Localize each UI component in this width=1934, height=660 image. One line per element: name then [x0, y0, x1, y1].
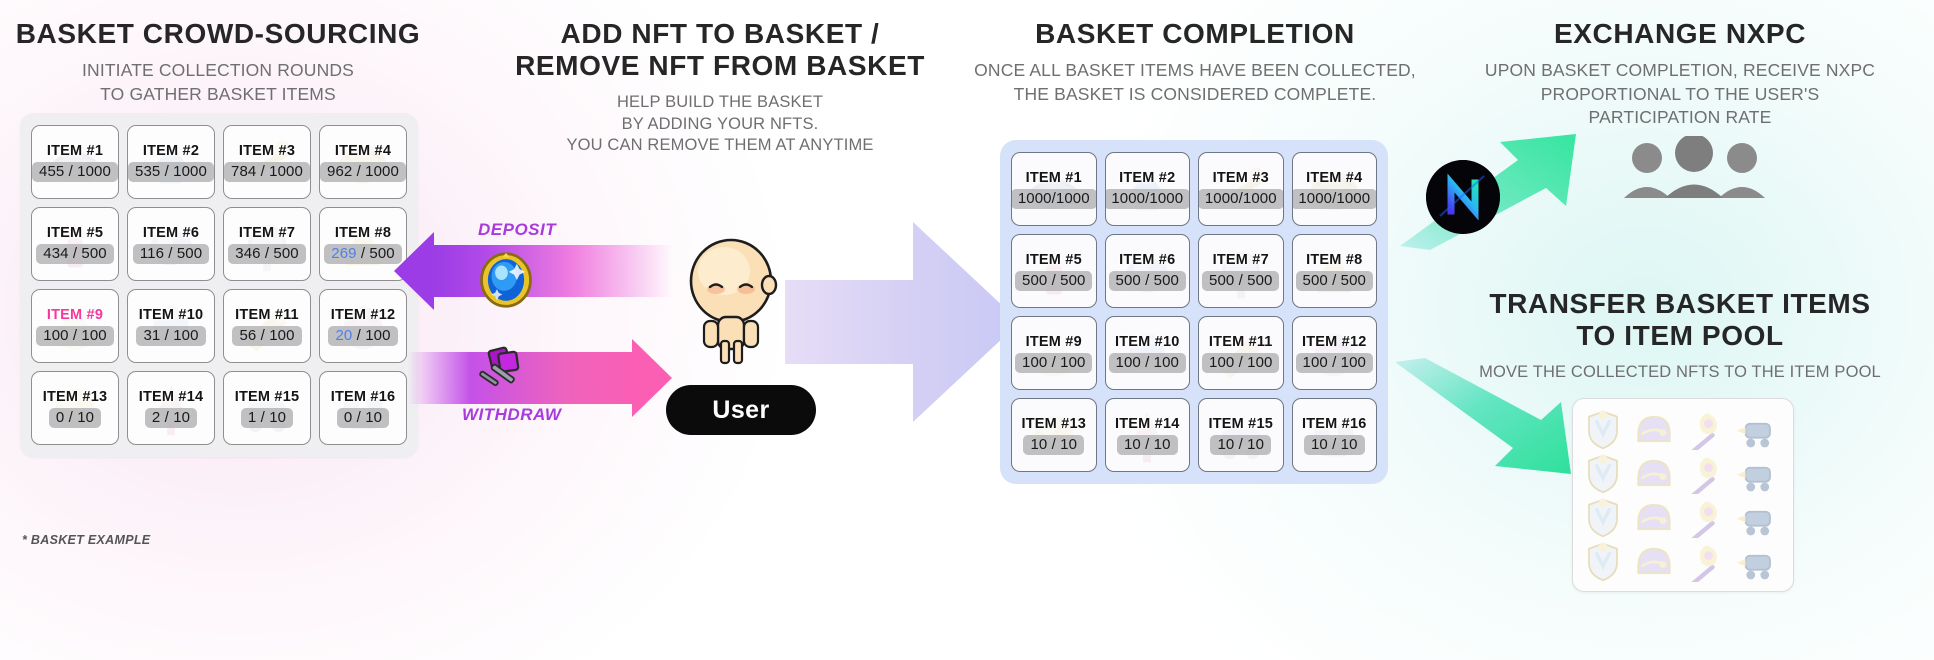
- basket-item-cell[interactable]: ITEM #142 / 10: [127, 371, 215, 445]
- exchange-title: EXCHANGE NXPC: [1460, 18, 1900, 50]
- basket-item-current: 269: [331, 245, 356, 262]
- basket-item-count: 100 / 100: [1202, 353, 1279, 373]
- basket-item-separator: /: [69, 327, 82, 344]
- basket-item-count: 100 / 100: [1015, 353, 1092, 373]
- basket-item-cell[interactable]: ITEM #6116 / 500: [127, 207, 215, 281]
- basket-item-total: 500: [81, 245, 106, 262]
- basket-item-cell[interactable]: ITEM #5434 / 500: [31, 207, 119, 281]
- pool-item-sprite: [1582, 408, 1624, 450]
- basket-item-current: 100: [43, 327, 68, 344]
- down-right-arrow-icon: [1395, 352, 1595, 482]
- deposit-label: DEPOSIT: [478, 220, 556, 240]
- basket-item-cell[interactable]: ITEM #11100 / 100: [1198, 316, 1284, 390]
- pool-item-sprite: [1633, 540, 1675, 582]
- basket-item-cell[interactable]: ITEM #10100 / 100: [1105, 316, 1191, 390]
- basket-item-cell[interactable]: ITEM #6500 / 500: [1105, 234, 1191, 308]
- basket-item-current: 10: [1124, 436, 1141, 453]
- basket-item-total: 500: [1060, 272, 1085, 289]
- hammer-item-icon: [472, 340, 530, 398]
- basket-item-label: ITEM #2: [143, 143, 199, 159]
- basket-item-count: 269 / 500: [324, 244, 401, 264]
- basket-item-label: ITEM #13: [43, 389, 107, 405]
- basket-item-label: ITEM #14: [139, 389, 203, 405]
- basket-item-label: ITEM #7: [1213, 252, 1269, 268]
- pool-item-sprite: [1735, 540, 1777, 582]
- basket-item-current: 31: [143, 327, 160, 344]
- complete-basket-grid[interactable]: ITEM #11000/1000ITEM #21000/1000ITEM #31…: [1000, 140, 1388, 484]
- basket-item-separator: /: [352, 327, 365, 344]
- basket-item-separator: /: [1328, 436, 1341, 453]
- basket-item-separator: /: [1234, 436, 1247, 453]
- basket-item-total: 1000: [365, 163, 399, 180]
- basket-item-separator: /: [160, 409, 173, 426]
- add-remove-subtitle: HELP BUILD THE BASKET BY ADDING YOUR NFT…: [500, 92, 940, 157]
- basket-item-total: 500: [1247, 272, 1272, 289]
- basket-item-current: 500: [1209, 272, 1234, 289]
- basket-item-cell[interactable]: ITEM #1455 / 1000: [31, 125, 119, 199]
- nxpc-token-logo: [1426, 160, 1500, 234]
- pool-item-sprite: [1735, 496, 1777, 538]
- basket-item-separator: /: [1234, 354, 1247, 371]
- basket-item-total: 10: [77, 409, 94, 426]
- basket-item-count: 434 / 500: [36, 244, 113, 264]
- pool-item-sprite: [1684, 496, 1726, 538]
- basket-item-cell[interactable]: ITEM #9100 / 100: [31, 289, 119, 363]
- basket-item-total: 500: [273, 245, 298, 262]
- basket-item-label: ITEM #4: [335, 143, 391, 159]
- basket-item-total: 1000: [173, 163, 207, 180]
- basket-item-total: 100: [1247, 354, 1272, 371]
- basket-item-label: ITEM #13: [1022, 416, 1086, 432]
- basket-item-label: ITEM #9: [1026, 334, 1082, 350]
- basket-item-count: 962 / 1000: [320, 162, 406, 182]
- basket-item-separator: /: [160, 163, 173, 180]
- basket-item-separator: /: [1141, 436, 1154, 453]
- basket-item-separator: /: [69, 245, 82, 262]
- basket-item-separator: /: [1328, 354, 1341, 371]
- basket-item-cell[interactable]: ITEM #8500 / 500: [1292, 234, 1378, 308]
- basket-item-count: 100 / 100: [1296, 353, 1373, 373]
- basket-item-total: 10: [1341, 436, 1358, 453]
- basket-item-total: 1000: [1243, 190, 1277, 207]
- basket-item-separator: /: [256, 409, 269, 426]
- basket-item-label: ITEM #10: [139, 307, 203, 323]
- basket-item-total: 500: [1341, 272, 1366, 289]
- basket-item-current: 346: [235, 245, 260, 262]
- basket-item-current: 535: [135, 163, 160, 180]
- basket-item-separator: /: [1141, 272, 1154, 289]
- section-completion: BASKET COMPLETION ONCE ALL BASKET ITEMS …: [970, 18, 1420, 106]
- basket-item-total: 10: [1247, 436, 1264, 453]
- basket-item-separator: /: [1234, 272, 1247, 289]
- basket-example-footnote: * BASKET EXAMPLE: [22, 533, 150, 547]
- basket-item-separator: /: [1047, 436, 1060, 453]
- basket-item-separator: /: [1141, 354, 1154, 371]
- basket-item-current: 10: [1030, 436, 1047, 453]
- basket-item-label: ITEM #4: [1306, 170, 1362, 186]
- basket-item-current: 1000: [1205, 190, 1239, 207]
- basket-item-cell[interactable]: ITEM #41000/1000: [1292, 152, 1378, 226]
- basket-item-label: ITEM #8: [335, 225, 391, 241]
- basket-item-total: 100: [1341, 354, 1366, 371]
- deposit-arrow-bar: [432, 245, 673, 297]
- basket-item-current: 784: [231, 163, 256, 180]
- basket-item-label: ITEM #15: [235, 389, 299, 405]
- basket-item-label: ITEM #2: [1119, 170, 1175, 186]
- basket-item-separator: /: [160, 327, 173, 344]
- basket-item-cell[interactable]: ITEM #11000/1000: [1011, 152, 1097, 226]
- basket-item-current: 100: [1022, 354, 1047, 371]
- basket-item-count: 1000/1000: [1198, 189, 1284, 209]
- basket-item-current: 56: [239, 327, 256, 344]
- basket-item-cell[interactable]: ITEM #1310 / 10: [1011, 398, 1097, 472]
- basket-item-total: 1000: [77, 163, 111, 180]
- withdraw-flow: [408, 352, 658, 404]
- basket-item-cell[interactable]: ITEM #4962 / 1000: [319, 125, 407, 199]
- basket-item-cell[interactable]: ITEM #21000/1000: [1105, 152, 1191, 226]
- basket-item-count: 535 / 1000: [128, 162, 214, 182]
- basket-item-separator: /: [357, 245, 370, 262]
- basket-item-total: 10: [1154, 436, 1171, 453]
- people-group-icon: [1622, 136, 1767, 198]
- basket-item-label: ITEM #16: [1302, 416, 1366, 432]
- pool-item-sprite: [1735, 408, 1777, 450]
- basket-item-cell[interactable]: ITEM #160 / 10: [319, 371, 407, 445]
- basket-item-separator: /: [164, 245, 177, 262]
- basket-item-count: 1 / 10: [241, 408, 293, 428]
- basket-item-cell[interactable]: ITEM #9100 / 100: [1011, 316, 1097, 390]
- basket-item-current: 1000: [1111, 190, 1145, 207]
- basket-item-label: ITEM #12: [1302, 334, 1366, 350]
- basket-item-current: 116: [140, 245, 164, 262]
- basket-item-label: ITEM #3: [239, 143, 295, 159]
- basket-item-cell[interactable]: ITEM #1510 / 10: [1198, 398, 1284, 472]
- basket-item-current: 10: [1311, 436, 1328, 453]
- basket-item-separator: /: [64, 409, 77, 426]
- orb-item-icon: [477, 251, 535, 309]
- exchange-subtitle: UPON BASKET COMPLETION, RECEIVE NXPC PRO…: [1460, 59, 1900, 128]
- basket-item-label: ITEM #8: [1306, 252, 1362, 268]
- basket-item-separator: /: [64, 163, 77, 180]
- basket-item-label: ITEM #11: [235, 307, 299, 323]
- basket-item-cell[interactable]: ITEM #1031 / 100: [127, 289, 215, 363]
- basket-item-count: 784 / 1000: [224, 162, 310, 182]
- basket-item-count: 1000/1000: [1105, 189, 1191, 209]
- basket-item-label: ITEM #11: [1209, 334, 1273, 350]
- basket-item-label: ITEM #9: [47, 307, 103, 323]
- basket-item-separator: /: [256, 163, 269, 180]
- basket-item-label: ITEM #5: [1026, 252, 1082, 268]
- basket-item-cell[interactable]: ITEM #1410 / 10: [1105, 398, 1191, 472]
- basket-item-count: 2 / 10: [145, 408, 197, 428]
- basket-item-cell[interactable]: ITEM #5500 / 500: [1011, 234, 1097, 308]
- deposit-flow: [408, 245, 673, 297]
- basket-item-separator: /: [352, 163, 365, 180]
- section-add-remove: ADD NFT TO BASKET / REMOVE NFT FROM BASK…: [500, 18, 940, 157]
- basket-item-current: 100: [1116, 354, 1141, 371]
- basket-item-separator: /: [261, 245, 274, 262]
- basket-item-current: 500: [1116, 272, 1141, 289]
- basket-item-label: ITEM #12: [331, 307, 395, 323]
- basket-item-count: 10 / 10: [1210, 435, 1271, 455]
- crowd-sourcing-title: BASKET CROWD-SOURCING: [8, 18, 428, 50]
- basket-item-cell[interactable]: ITEM #2535 / 1000: [127, 125, 215, 199]
- basket-item-separator: /: [1047, 272, 1060, 289]
- basket-item-count: 20 / 100: [328, 326, 397, 346]
- basket-item-cell[interactable]: ITEM #3784 / 1000: [223, 125, 311, 199]
- basket-item-current: 434: [43, 245, 68, 262]
- basket-item-current: 20: [335, 327, 352, 344]
- basket-item-cell[interactable]: ITEM #12100 / 100: [1292, 316, 1378, 390]
- basket-item-count: 10 / 10: [1117, 435, 1178, 455]
- basket-item-cell[interactable]: ITEM #7346 / 500: [223, 207, 311, 281]
- deposit-arrow-head: [394, 232, 434, 310]
- basket-item-total: 100: [1060, 354, 1085, 371]
- add-remove-title: ADD NFT TO BASKET / REMOVE NFT FROM BASK…: [500, 18, 940, 83]
- basket-item-label: ITEM #6: [143, 225, 199, 241]
- source-basket-grid[interactable]: ITEM #1455 / 1000ITEM #2535 / 1000ITEM #…: [20, 113, 418, 457]
- pool-item-sprite: [1633, 408, 1675, 450]
- basket-item-count: 500 / 500: [1296, 271, 1373, 291]
- basket-item-current: 100: [1303, 354, 1328, 371]
- basket-item-total: 100: [173, 327, 198, 344]
- basket-item-total: 10: [269, 409, 286, 426]
- basket-item-count: 1000/1000: [1011, 189, 1097, 209]
- basket-item-separator: /: [352, 409, 365, 426]
- basket-item-cell[interactable]: ITEM #130 / 10: [31, 371, 119, 445]
- basket-item-count: 100 / 100: [1109, 353, 1186, 373]
- basket-item-total: 1000: [1056, 190, 1090, 207]
- basket-item-count: 500 / 500: [1202, 271, 1279, 291]
- basket-item-count: 0 / 10: [337, 408, 389, 428]
- basket-item-label: ITEM #3: [1213, 170, 1269, 186]
- pool-item-sprite: [1684, 540, 1726, 582]
- basket-item-current: 962: [327, 163, 352, 180]
- basket-item-current: 100: [1209, 354, 1234, 371]
- basket-item-current: 1000: [1018, 190, 1052, 207]
- section-crowd-sourcing: BASKET CROWD-SOURCING INITIATE COLLECTIO…: [8, 18, 428, 106]
- basket-item-count: 10 / 10: [1023, 435, 1084, 455]
- basket-item-count: 0 / 10: [49, 408, 101, 428]
- basket-item-count: 31 / 100: [136, 326, 205, 346]
- basket-item-count: 1000/1000: [1292, 189, 1378, 209]
- item-pool-grid[interactable]: [1572, 398, 1794, 592]
- completion-title: BASKET COMPLETION: [970, 18, 1420, 50]
- basket-item-total: 1000: [1149, 190, 1183, 207]
- pixel-character-avatar: [676, 237, 786, 367]
- basket-item-current: 500: [1022, 272, 1047, 289]
- pool-item-sprite: [1582, 540, 1624, 582]
- basket-item-count: 346 / 500: [228, 244, 305, 264]
- user-label: User: [712, 396, 769, 425]
- pool-item-sprite: [1582, 496, 1624, 538]
- basket-item-label: ITEM #16: [331, 389, 395, 405]
- pool-item-sprite: [1684, 408, 1726, 450]
- basket-item-cell[interactable]: ITEM #1610 / 10: [1292, 398, 1378, 472]
- basket-item-separator: /: [1047, 354, 1060, 371]
- basket-item-label: ITEM #6: [1119, 252, 1175, 268]
- basket-item-total: 10: [1060, 436, 1077, 453]
- basket-item-total: 1000: [269, 163, 303, 180]
- basket-item-label: ITEM #10: [1115, 334, 1179, 350]
- basket-item-count: 56 / 100: [232, 326, 301, 346]
- basket-item-cell[interactable]: ITEM #151 / 10: [223, 371, 311, 445]
- basket-item-label: ITEM #1: [1026, 170, 1082, 186]
- basket-item-total: 500: [177, 245, 202, 262]
- transfer-title: TRANSFER BASKET ITEMS TO ITEM POOL: [1460, 288, 1900, 353]
- basket-item-total: 500: [369, 245, 394, 262]
- pool-item-sprite: [1684, 452, 1726, 494]
- basket-item-total: 500: [1154, 272, 1179, 289]
- basket-item-count: 116 / 500: [133, 244, 209, 264]
- withdraw-label: WITHDRAW: [462, 405, 561, 425]
- basket-item-cell[interactable]: ITEM #31000/1000: [1198, 152, 1284, 226]
- progress-arrow-icon: [785, 222, 1020, 422]
- basket-item-total: 100: [1154, 354, 1179, 371]
- basket-item-separator: /: [1328, 272, 1341, 289]
- basket-item-total: 100: [269, 327, 294, 344]
- completion-subtitle: ONCE ALL BASKET ITEMS HAVE BEEN COLLECTE…: [970, 59, 1420, 105]
- basket-item-total: 10: [173, 409, 190, 426]
- basket-item-count: 500 / 500: [1109, 271, 1186, 291]
- basket-item-total: 10: [365, 409, 382, 426]
- basket-item-label: ITEM #15: [1209, 416, 1273, 432]
- basket-item-label: ITEM #5: [47, 225, 103, 241]
- basket-item-separator: /: [256, 327, 269, 344]
- basket-item-count: 100 / 100: [36, 326, 113, 346]
- pool-item-sprite: [1582, 452, 1624, 494]
- section-exchange: EXCHANGE NXPC UPON BASKET COMPLETION, RE…: [1460, 18, 1900, 129]
- basket-item-label: ITEM #1: [47, 143, 103, 159]
- basket-item-current: 500: [1303, 272, 1328, 289]
- crowd-sourcing-subtitle: INITIATE COLLECTION ROUNDS TO GATHER BAS…: [8, 59, 428, 105]
- basket-item-count: 455 / 1000: [32, 162, 118, 182]
- pool-item-sprite: [1633, 452, 1675, 494]
- pool-item-sprite: [1633, 496, 1675, 538]
- basket-item-current: 455: [39, 163, 64, 180]
- basket-item-current: 1000: [1298, 190, 1332, 207]
- basket-item-cell[interactable]: ITEM #7500 / 500: [1198, 234, 1284, 308]
- basket-item-label: ITEM #7: [239, 225, 295, 241]
- basket-item-current: 10: [1217, 436, 1234, 453]
- basket-item-label: ITEM #14: [1115, 416, 1179, 432]
- basket-item-count: 10 / 10: [1304, 435, 1365, 455]
- infographic-stage: BASKET CROWD-SOURCING INITIATE COLLECTIO…: [0, 0, 1934, 660]
- basket-item-total: 100: [81, 327, 106, 344]
- basket-item-total: 100: [365, 327, 390, 344]
- basket-item-count: 500 / 500: [1015, 271, 1092, 291]
- basket-item-cell[interactable]: ITEM #1156 / 100: [223, 289, 311, 363]
- basket-item-total: 1000: [1336, 190, 1370, 207]
- pool-item-sprite: [1735, 452, 1777, 494]
